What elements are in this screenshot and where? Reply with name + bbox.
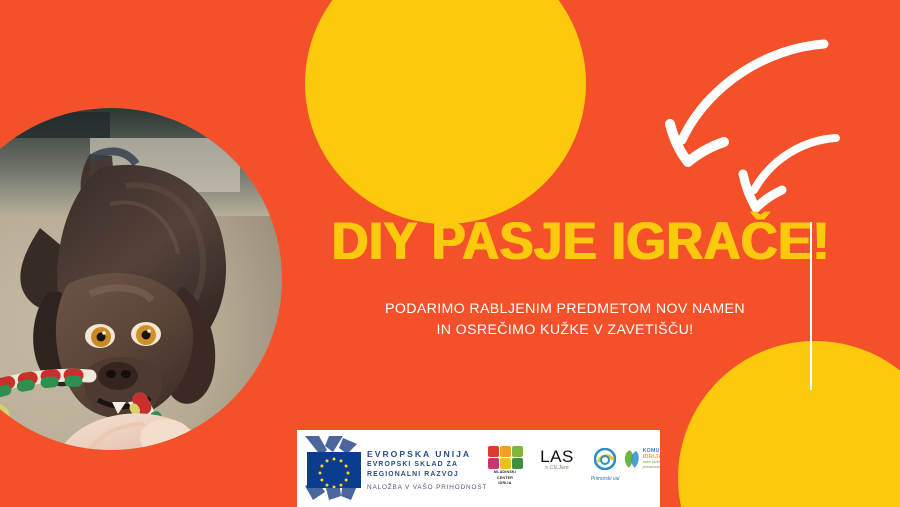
- dog-photo-illustration: [0, 108, 282, 450]
- curved-arrow-1-head: [670, 124, 724, 162]
- curved-arrow-2-shaft: [754, 138, 836, 190]
- eu-logo-block: EVROPSKA UNIJA EVROPSKI SKLAD ZA REGIONA…: [303, 434, 493, 503]
- eu-logo-text: EVROPSKA UNIJA EVROPSKI SKLAD ZA REGIONA…: [367, 449, 493, 492]
- mci-caption-1: MLADINSKI: [485, 470, 525, 475]
- mci-caption-3: IDRIJA: [485, 481, 525, 486]
- eu-title: EVROPSKA UNIJA: [367, 449, 493, 460]
- poster-canvas: DIY PASJE IGRAČE! PODARIMO RABLJENIM PRE…: [0, 0, 900, 507]
- eu-line-2: EVROPSKI SKLAD ZA: [367, 460, 493, 470]
- decorative-arrows: [648, 18, 888, 226]
- komunala-leaf-icon: [623, 446, 641, 472]
- subtitle-line-1: PODARIMO RABLJENIM PREDMETOM NOV NAMEN: [322, 299, 808, 320]
- mci-mark-icon: [485, 446, 525, 469]
- eu-line-3: REGIONALNI RAZVOJ: [367, 470, 493, 480]
- partner-logos: MLADINSKI CENTER IDRIJA LAS s CILJem Pri…: [483, 438, 655, 500]
- eu-tagline: NALOŽBA V VAŠO PRIHODNOST: [367, 483, 493, 492]
- eu-flag-icon: [307, 452, 361, 488]
- yellow-circle-top: [305, 0, 586, 224]
- dog-photo: [0, 108, 282, 450]
- page-title: DIY PASJE IGRAČE!: [332, 214, 799, 270]
- soca-swirl-icon: [594, 448, 616, 470]
- sponsor-logo-bar: EVROPSKA UNIJA EVROPSKI SKLAD ZA REGIONA…: [297, 430, 660, 507]
- subtitle-line-2: IN OSREČIMO KUŽKE V ZAVETIŠČU!: [322, 320, 808, 341]
- las-subtext: s CILJem: [533, 465, 581, 472]
- mci-caption-2: CENTER: [485, 476, 525, 481]
- subtitle: PODARIMO RABLJENIM PREDMETOM NOV NAMEN I…: [322, 299, 808, 341]
- las-wordmark: LAS: [533, 448, 581, 465]
- curved-arrow-1-shaft: [682, 44, 824, 140]
- vertical-divider: [810, 222, 812, 390]
- soca-caption: Primorski val: [587, 476, 623, 483]
- partner-logo-komunala: KOMUNALA IDRIJA naše skrbi, vaše pričako…: [623, 446, 660, 472]
- komunala-line-3: naše skrbi, vaše pričakovanje: [643, 460, 660, 470]
- partner-logo-soca: Primorski val: [587, 448, 623, 483]
- yellow-circle-bottom: [678, 341, 900, 507]
- partner-logo-mci: MLADINSKI CENTER IDRIJA: [485, 446, 525, 486]
- komunala-line-1: KOMUNALA: [643, 448, 660, 454]
- partner-logo-las: LAS s CILJem: [533, 448, 581, 472]
